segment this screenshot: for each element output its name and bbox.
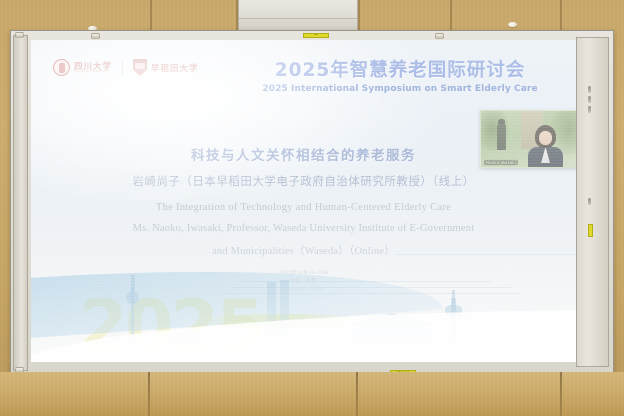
speaker-line-cn: 岩崎尚子（日本早稻田大学电子政府自治体研究所教授）（线上）: [31, 173, 576, 189]
lower-wall-seam: [356, 372, 358, 416]
hinge-icon: [588, 198, 591, 205]
logo-sichuan-en: SICHUAN UNIVERSITY: [74, 71, 112, 74]
logo-sichuan-university: 四川大学 SICHUAN UNIVERSITY: [53, 59, 112, 76]
event-city-en: Chengdu, China: [31, 286, 576, 294]
conference-title-en: 2025 International Symposium on Smart El…: [240, 84, 560, 94]
speaker-line-en-1: Ms. Naoko, Iwasaki, Professor, Waseda Un…: [31, 223, 576, 234]
event-city-cn: 中国 · 成都: [31, 278, 576, 286]
speaker-line-en-2: and Municipalities（Waseda）（Online）: [31, 243, 576, 258]
hinge-icon: [588, 86, 591, 93]
frame-bracket: [435, 33, 444, 39]
classroom-scene: 注意 2025: [0, 0, 624, 416]
lower-wood-wall: [0, 372, 624, 416]
projected-slide: 2025: [31, 40, 576, 362]
session-heading-cn: 科技与人文关怀相结合的养老服务: [31, 144, 576, 164]
event-date-location: 2025年10月23-24日 中国 · 成都 Chengdu, China: [31, 270, 576, 294]
frame-bracket: [15, 32, 24, 38]
hinge-icon: [588, 96, 591, 103]
wing-sticker: [588, 224, 593, 237]
ceiling-panel: [238, 0, 358, 33]
shield-icon: [133, 59, 147, 76]
university-seal-icon: [53, 59, 70, 76]
logo-divider: [122, 60, 123, 76]
slide-body: 科技与人文关怀相结合的养老服务 岩崎尚子（日本早稻田大学电子政府自治体研究所教授…: [31, 144, 576, 258]
warning-sticker-top: 注意: [303, 33, 329, 38]
session-heading-en: The Integration of Technology and Human-…: [31, 202, 576, 213]
logo-waseda-cn: 早稻田大学: [151, 62, 199, 74]
event-date: 2025年10月23-24日: [31, 270, 576, 278]
logo-waseda-university: 早稻田大学: [133, 59, 199, 76]
frame-bracket: [91, 33, 100, 39]
lower-wall-seam: [148, 372, 150, 416]
lower-wall-seam: [560, 372, 562, 416]
conference-title-cn: 2025年智慧养老国际研讨会: [240, 56, 560, 82]
slide-logos: 四川大学 SICHUAN UNIVERSITY 早稻田大学: [53, 59, 199, 76]
ceiling-fixture: [508, 22, 517, 27]
slide-header: 2025年智慧养老国际研讨会 2025 International Sympos…: [240, 56, 560, 94]
whiteboard-left-edge: [13, 35, 28, 371]
slide-canvas: 2025: [31, 40, 576, 362]
hinge-icon: [588, 106, 591, 113]
whiteboard-side-wing: [576, 37, 609, 367]
whiteboard: 注意 2025: [10, 30, 614, 374]
